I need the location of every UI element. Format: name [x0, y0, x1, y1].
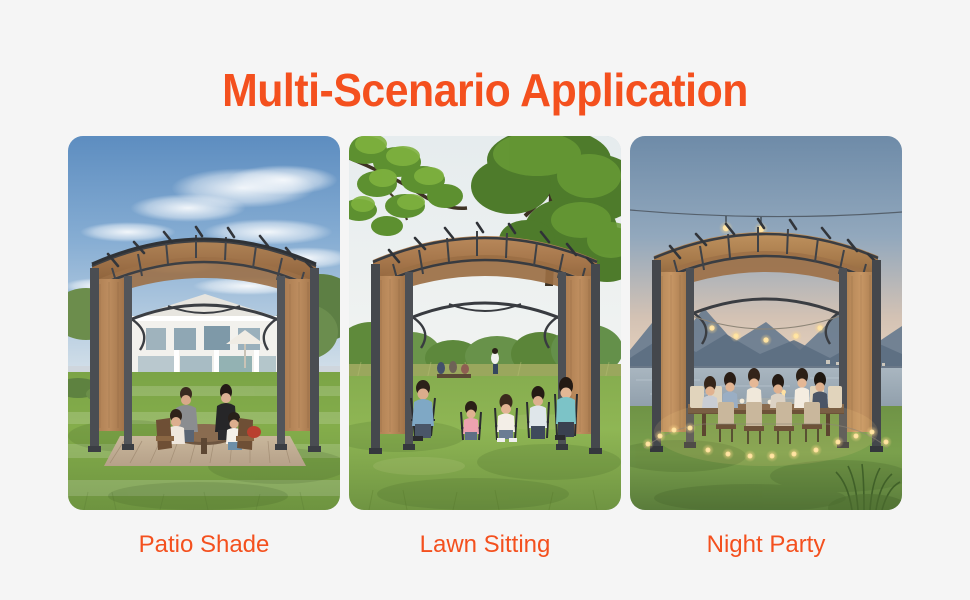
scenario-image-lawn-sitting: Pergola with arched tan canopy on a park…: [349, 136, 621, 510]
page-title: Multi-Scenario Application: [34, 64, 936, 116]
scenario-caption-night-party: Night Party: [630, 528, 902, 568]
scenario-caption-lawn-sitting: Lawn Sitting: [349, 528, 621, 568]
scenario-image-row: Pergola with arched tan canopy over a wo…: [68, 136, 902, 510]
scenario-caption-row: Patio Shade Lawn Sitting Night Party: [68, 528, 902, 568]
scenario-image-patio-shade: Pergola with arched tan canopy over a wo…: [68, 136, 340, 510]
scenario-image-night-party: Pergola with arched tan canopy at dusk b…: [630, 136, 902, 510]
promo-banner: Multi-Scenario Application Pergola with …: [0, 0, 970, 600]
scenario-caption-patio-shade: Patio Shade: [68, 528, 340, 568]
